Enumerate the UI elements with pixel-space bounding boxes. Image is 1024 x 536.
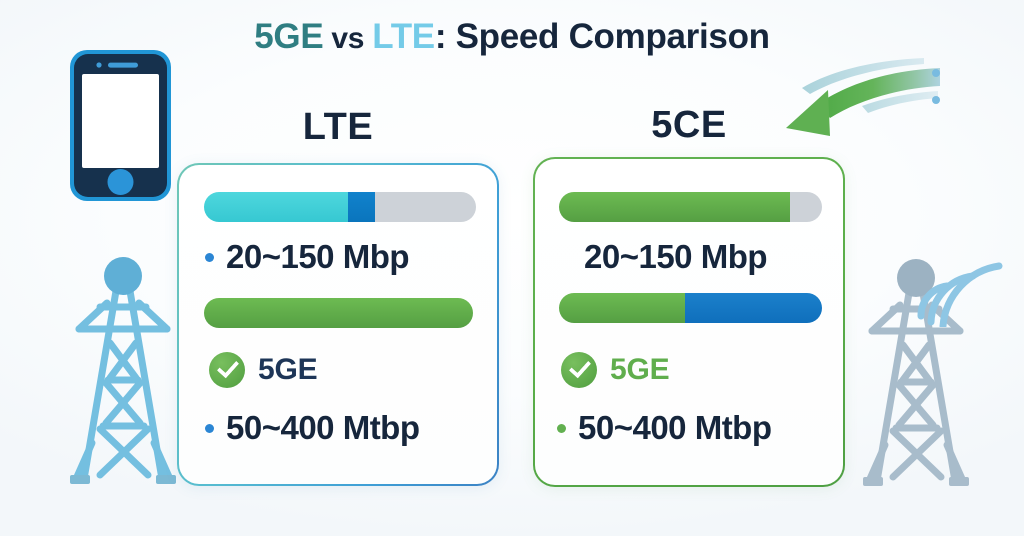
check-circle-icon <box>209 352 245 388</box>
feature-label: 5GE <box>610 353 669 387</box>
bullet-dot-icon <box>205 253 214 262</box>
feature-row-5ge-5ge: 5GE <box>561 352 669 388</box>
card-heading-5ge: 5CE <box>533 104 845 147</box>
feature-label: 5GE <box>258 353 317 387</box>
bar-segment-green <box>204 298 473 328</box>
bar-segment-track <box>790 192 822 222</box>
spec-label: 50~400 Mtbp <box>578 409 772 447</box>
accent-dot-lower <box>932 96 940 104</box>
bar-segment-blue <box>348 192 375 222</box>
progress-bar-5ge-secondary <box>559 293 822 323</box>
spec-row-lte-1: 20~150 Mbp <box>205 238 409 276</box>
spec-label: 20~150 Mbp <box>584 238 767 276</box>
cell-tower-icon-left <box>60 243 186 498</box>
signal-waves-icon <box>917 232 1017 332</box>
title-part-rest: : Speed Comparison <box>435 17 770 56</box>
bar-segment-track <box>375 192 476 222</box>
infographic-canvas: 5GE vs LTE: Speed Comparison <box>0 0 1024 536</box>
progress-bar-lte-secondary <box>204 298 473 328</box>
progress-bar-lte-primary <box>204 192 476 222</box>
bar-segment-green <box>559 293 685 323</box>
feature-row-lte-5ge: 5GE <box>209 352 317 388</box>
bar-segment-green <box>559 192 790 222</box>
accent-dot-upper <box>932 69 940 77</box>
spec-row-lte-2: 50~400 Mtbp <box>205 409 420 447</box>
card-heading-lte: LTE <box>177 106 499 149</box>
smartphone-icon <box>68 48 173 208</box>
bullet-dot-icon <box>563 253 572 262</box>
spec-row-5ge-2: 50~400 Mtbp <box>557 409 772 447</box>
check-circle-icon <box>561 352 597 388</box>
bullet-dot-icon <box>205 424 214 433</box>
spec-row-5ge-1: 20~150 Mbp <box>563 238 767 276</box>
title-part-vs: vs <box>323 22 372 55</box>
progress-bar-5ge-primary <box>559 192 822 222</box>
title-part-5ge: 5GE <box>254 17 323 56</box>
bullet-dot-icon <box>557 424 566 433</box>
bar-segment-cyan <box>204 192 348 222</box>
spec-label: 20~150 Mbp <box>226 238 409 276</box>
title-part-lte: LTE <box>372 17 435 56</box>
bar-segment-blue <box>685 293 822 323</box>
spec-label: 50~400 Mtbp <box>226 409 420 447</box>
